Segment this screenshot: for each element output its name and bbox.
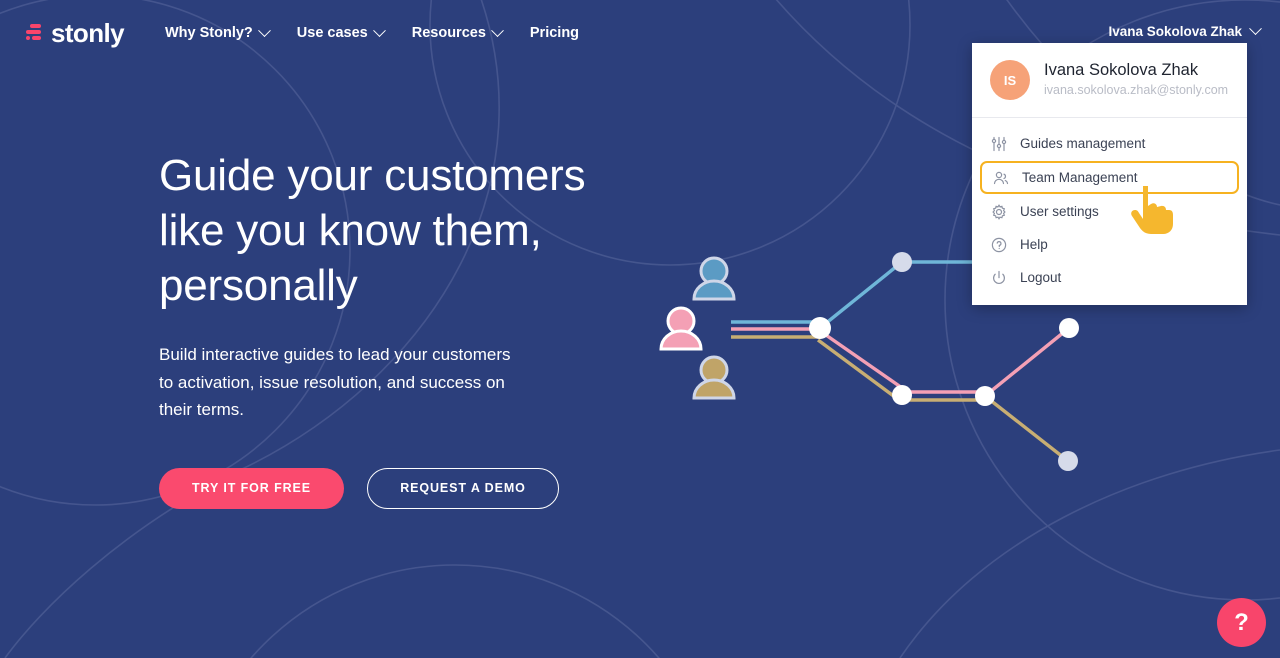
menu-item-team-management[interactable]: Team Management	[980, 161, 1239, 194]
hero-subtext: Build interactive guides to lead your cu…	[159, 341, 529, 424]
menu-item-user-settings[interactable]: User settings	[980, 196, 1239, 227]
nav-label: Why Stonly?	[165, 25, 253, 41]
question-circle-icon	[990, 236, 1007, 253]
sliders-icon	[990, 135, 1007, 152]
avatar: IS	[990, 60, 1030, 100]
menu-item-label: User settings	[1020, 204, 1099, 219]
cta-row: TRY IT FOR FREE REQUEST A DEMO	[159, 468, 759, 509]
menu-item-label: Help	[1020, 237, 1048, 252]
page-title: Guide your customers like you know them,…	[159, 148, 759, 313]
dropdown-item-list: Guides management Team Management Us	[972, 118, 1247, 305]
try-it-for-free-button[interactable]: TRY IT FOR FREE	[159, 468, 344, 509]
user-dropdown-menu: IS Ivana Sokolova Zhak ivana.sokolova.zh…	[972, 43, 1247, 305]
users-icon	[992, 169, 1009, 186]
chevron-down-icon	[491, 24, 504, 37]
stonly-logo-mark	[24, 23, 44, 43]
user-menu-trigger[interactable]: Ivana Sokolova Zhak	[1108, 24, 1260, 39]
heading-line-2: like you know them,	[159, 206, 542, 255]
menu-item-logout[interactable]: Logout	[980, 262, 1239, 293]
menu-item-label: Logout	[1020, 270, 1061, 285]
node-mid-right	[975, 386, 995, 406]
chevron-down-icon	[1249, 22, 1262, 35]
gear-icon	[990, 203, 1007, 220]
nav-label: Pricing	[530, 25, 579, 41]
nav-label: Resources	[412, 25, 486, 41]
power-icon	[990, 269, 1007, 286]
help-floating-button[interactable]: ?	[1217, 598, 1266, 647]
heading-line-3: personally	[159, 261, 358, 310]
nav-label: Use cases	[297, 25, 368, 41]
logo-text: stonly	[51, 18, 124, 49]
user-menu-name: Ivana Sokolova Zhak	[1108, 24, 1242, 39]
chevron-down-icon	[373, 24, 386, 37]
node-right-up	[1059, 318, 1079, 338]
node-hub	[809, 317, 831, 339]
heading-line-1: Guide your customers	[159, 151, 585, 200]
node-mid-left	[892, 385, 912, 405]
nav-links: Why Stonly? Use cases Resources Pricing	[151, 19, 593, 47]
dropdown-user-name: Ivana Sokolova Zhak	[1044, 60, 1228, 81]
chevron-down-icon	[258, 24, 271, 37]
nav-item-pricing[interactable]: Pricing	[516, 19, 593, 47]
nav-item-resources[interactable]: Resources	[398, 19, 516, 47]
nav-item-why-stonly[interactable]: Why Stonly?	[151, 19, 283, 47]
menu-item-label: Team Management	[1022, 170, 1138, 185]
menu-item-guides-management[interactable]: Guides management	[980, 128, 1239, 159]
stonly-logo[interactable]: stonly	[24, 18, 124, 49]
dropdown-user-email: ivana.sokolova.zhak@stonly.com	[1044, 81, 1228, 100]
menu-item-label: Guides management	[1020, 136, 1145, 151]
menu-item-help[interactable]: Help	[980, 229, 1239, 260]
hero-section: Guide your customers like you know them,…	[159, 148, 759, 509]
nav-item-use-cases[interactable]: Use cases	[283, 19, 398, 47]
dropdown-user-header: IS Ivana Sokolova Zhak ivana.sokolova.zh…	[972, 43, 1247, 117]
node-top	[892, 252, 912, 272]
request-a-demo-button[interactable]: REQUEST A DEMO	[367, 468, 559, 509]
node-right-down	[1058, 451, 1078, 471]
